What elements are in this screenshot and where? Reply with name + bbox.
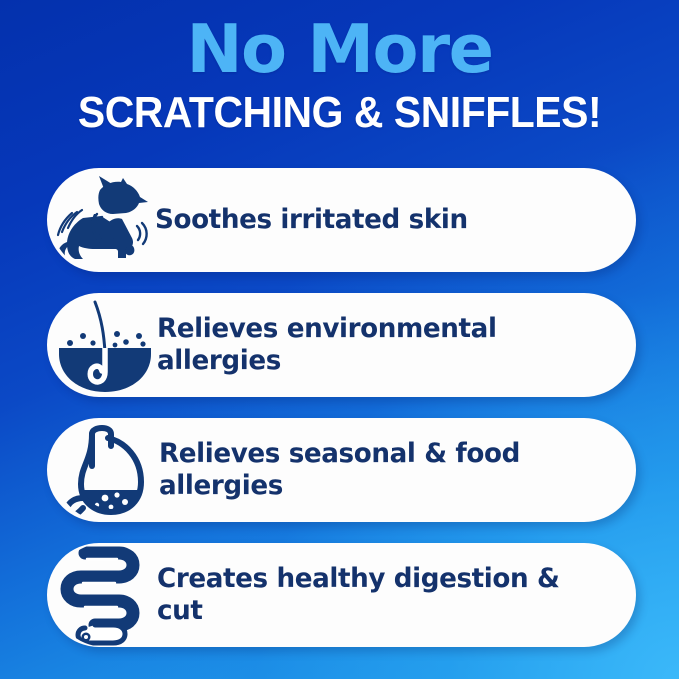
promo-poster: No More SCRATCHING & SNIFFLES! xyxy=(0,0,679,679)
headline: No More SCRATCHING & SNIFFLES! xyxy=(0,0,679,135)
hair-follicle-skin-icon xyxy=(53,293,157,397)
dog-scratching-icon xyxy=(51,168,155,272)
headline-primary: No More xyxy=(0,17,679,83)
stomach-icon xyxy=(55,418,159,522)
benefit-label: Relieves environmental allergies xyxy=(157,313,622,377)
intestine-icon xyxy=(53,543,157,647)
benefit-card[interactable]: Relieves environmental allergies xyxy=(47,293,636,397)
benefit-label: Soothes irritated skin xyxy=(155,204,622,236)
benefit-label: Creates healthy digestion & cut xyxy=(157,563,622,627)
benefit-label: Relieves seasonal & food allergies xyxy=(159,438,622,502)
benefit-card[interactable]: Creates healthy digestion & cut xyxy=(47,543,636,647)
benefit-card[interactable]: Relieves seasonal & food allergies xyxy=(47,418,636,522)
benefit-card-list: Soothes irritated skin xyxy=(47,168,636,668)
headline-secondary: SCRATCHING & SNIFFLES! xyxy=(24,91,655,135)
benefit-card[interactable]: Soothes irritated skin xyxy=(47,168,636,272)
